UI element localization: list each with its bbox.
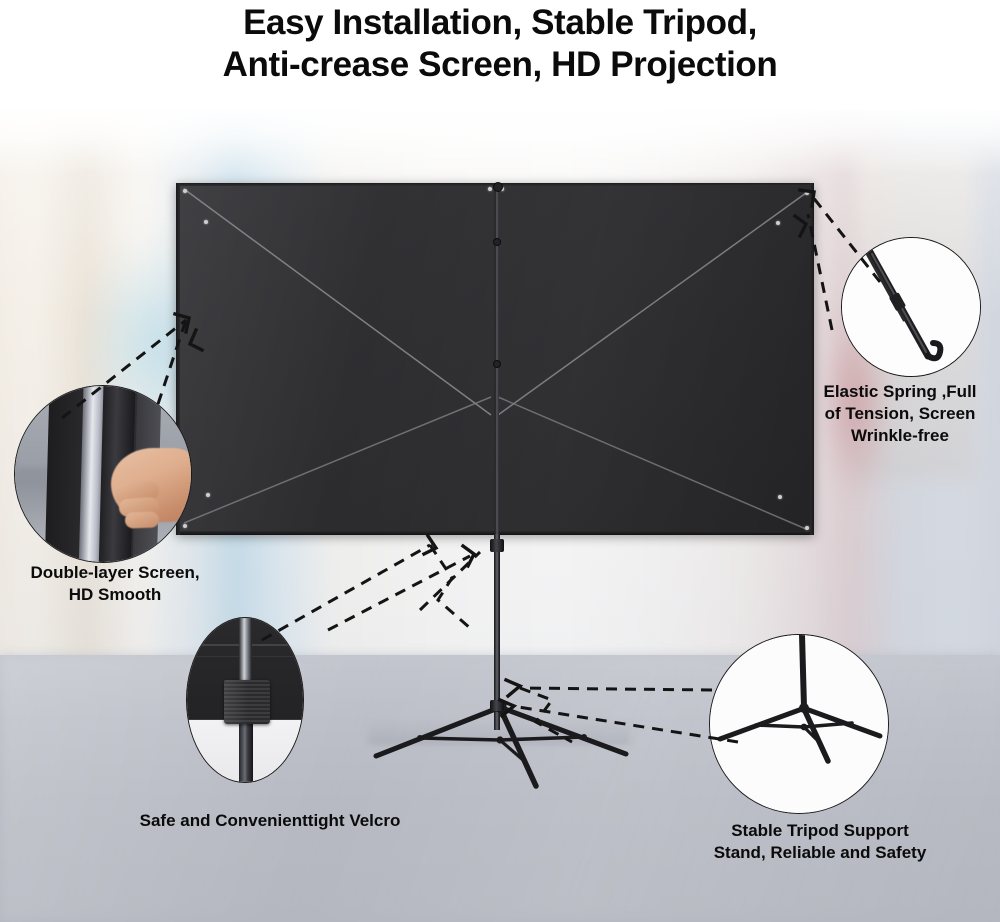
callout-label-double-layer-screen: Double-layer Screen, HD Smooth [0,562,230,606]
callout-label-line: Elastic Spring ,Full [800,381,1000,403]
callout-label-line: Stand, Reliable and Safety [640,842,1000,864]
callout-label-elastic-spring: Elastic Spring ,Full of Tension, Screen … [800,381,1000,447]
headline-line-1: Easy Installation, Stable Tripod, [0,2,1000,44]
callout-label-line: Safe and Convenienttight Velcro [60,810,480,832]
callout-label-line: HD Smooth [0,584,230,606]
callout-label-velcro-strap: Safe and Convenienttight Velcro [60,810,480,832]
callout-pointer-lines [0,0,1000,922]
callout-label-line: Wrinkle-free [800,425,1000,447]
headline: Easy Installation, Stable Tripod, Anti-c… [0,2,1000,86]
headline-line-2: Anti-crease Screen, HD Projection [0,44,1000,86]
callout-label-line: Stable Tripod Support [640,820,1000,842]
callout-label-line: Double-layer Screen, [0,562,230,584]
callout-label-line: of Tension, Screen [800,403,1000,425]
product-infographic: Easy Installation, Stable Tripod, Anti-c… [0,0,1000,922]
callout-label-tripod-support: Stable Tripod Support Stand, Reliable an… [640,820,1000,864]
